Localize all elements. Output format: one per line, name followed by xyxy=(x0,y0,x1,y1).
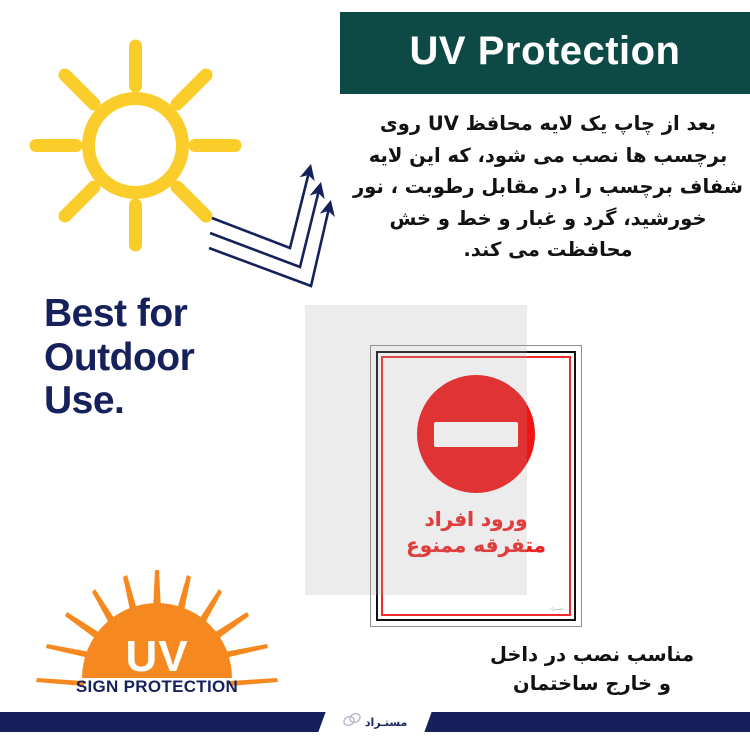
safety-sign-card: ورود افراد متفرقه ممنوع مستـراد xyxy=(370,345,582,627)
svg-text:UV: UV xyxy=(125,632,188,681)
sign-outer-border: ورود افراد متفرقه ممنوع مستـراد xyxy=(376,351,576,621)
sign-text: ورود افراد متفرقه ممنوع xyxy=(406,507,546,558)
bottom-caption-line-2: و خارج ساختمان xyxy=(442,669,742,698)
page-title: UV Protection xyxy=(410,31,681,71)
sign-corner-mark: مستـراد xyxy=(550,606,563,611)
uv-protection-infographic: UV Protection بعد از چاپ یک لایه محافظ U… xyxy=(0,0,750,750)
svg-text:SIGN PROTECTION: SIGN PROTECTION xyxy=(76,677,238,693)
headline-line-2: Outdoor xyxy=(44,336,314,380)
header-banner: UV Protection xyxy=(340,12,750,94)
headline: Best for Outdoor Use. xyxy=(44,292,314,423)
bottom-caption-line-1: مناسب نصب در داخل xyxy=(442,640,742,669)
sign-text-line-2: متفرقه ممنوع xyxy=(406,533,546,559)
reflection-arrows-icon xyxy=(208,160,378,310)
sign-inner-border: ورود افراد متفرقه ممنوع مستـراد xyxy=(381,356,571,616)
intro-paragraph: بعد از چاپ یک لایه محافظ UV روی برچسب ها… xyxy=(352,108,744,266)
headline-line-1: Best for xyxy=(44,292,314,336)
headline-line-3: Use. xyxy=(44,379,314,423)
bottom-caption: مناسب نصب در داخل و خارج ساختمان xyxy=(442,640,742,699)
uv-sign-protection-logo: UV SIGN PROTECTION xyxy=(22,568,292,693)
sign-text-line-1: ورود افراد xyxy=(406,507,546,533)
no-entry-icon xyxy=(417,375,535,493)
footer-bar xyxy=(0,712,750,732)
no-entry-bar xyxy=(434,422,518,447)
